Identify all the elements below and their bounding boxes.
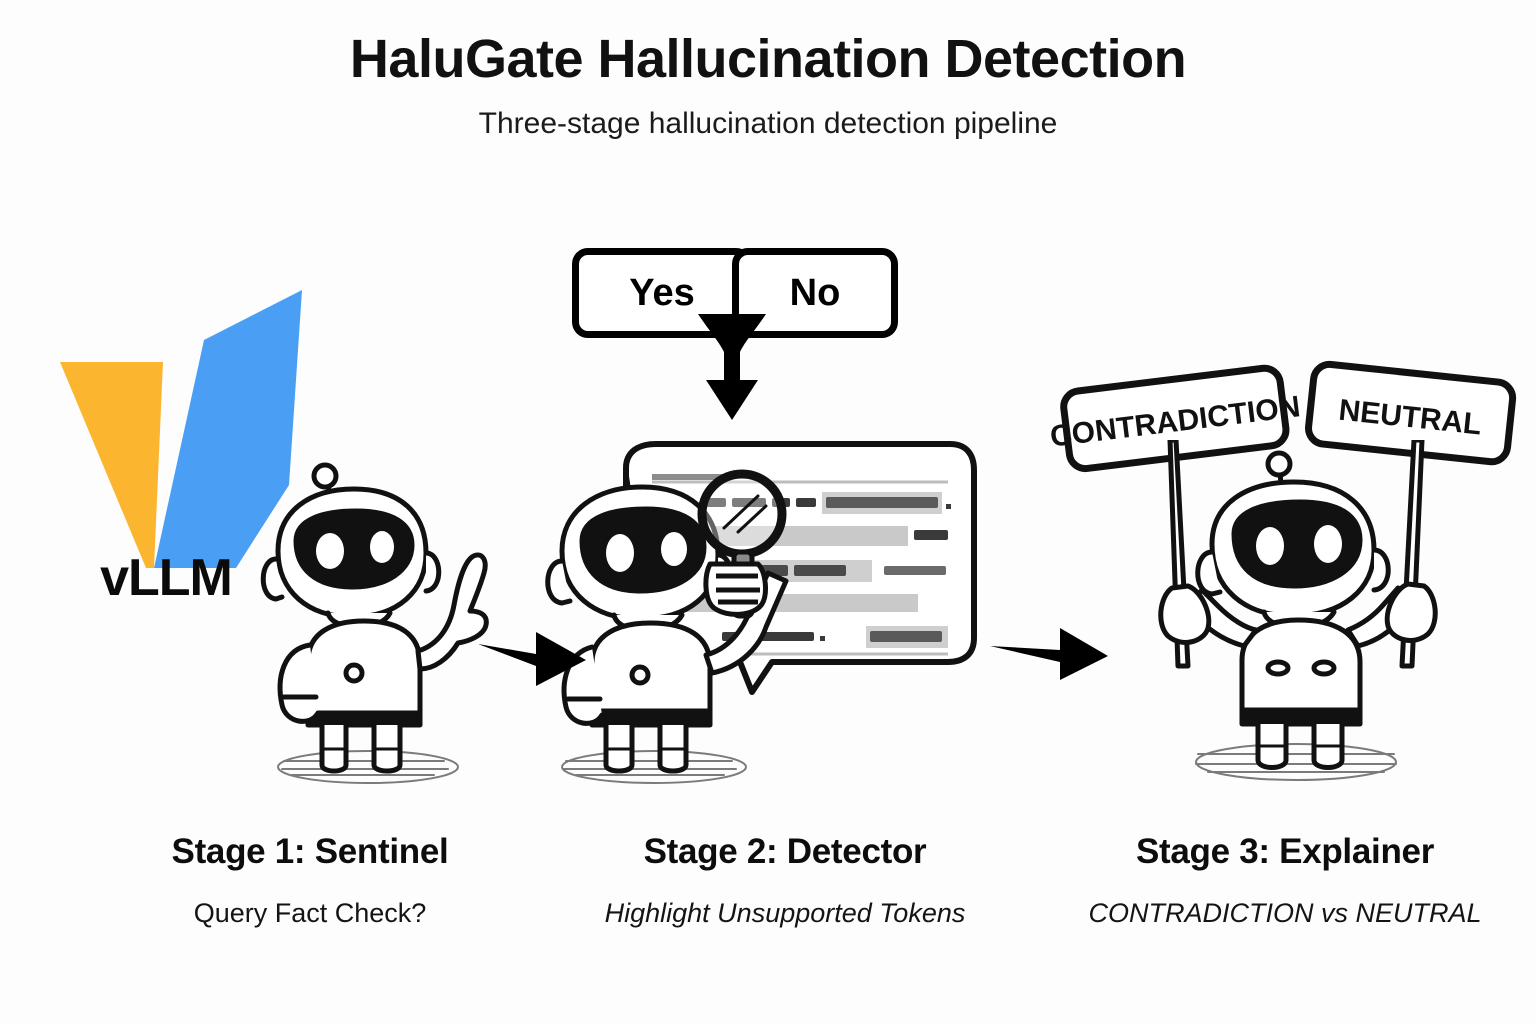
stage-1-caption: Stage 1: Sentinel Query Fact Check?: [70, 832, 550, 929]
stage-3-subtitle: CONTRADICTION vs NEUTRAL: [1045, 898, 1525, 929]
header: HaluGate Hallucination Detection Three-s…: [0, 30, 1536, 141]
page-title: HaluGate Hallucination Detection: [0, 30, 1536, 89]
stage-3-caption: Stage 3: Explainer CONTRADICTION vs NEUT…: [1045, 832, 1525, 929]
stage-2-caption: Stage 2: Detector Highlight Unsupported …: [545, 832, 1025, 929]
stage-2-title: Stage 2: Detector: [545, 832, 1025, 872]
decision-bubbles: Yes No: [572, 248, 892, 428]
stage-3-title: Stage 3: Explainer: [1045, 832, 1525, 872]
robot-explainer: [1146, 440, 1446, 785]
decision-down-arrow: [684, 310, 780, 425]
magnifying-glass-icon: [686, 466, 806, 636]
stage-1-subtitle: Query Fact Check?: [70, 898, 550, 929]
stage-2-subtitle: Highlight Unsupported Tokens: [545, 898, 1025, 929]
diagram-canvas: HaluGate Hallucination Detection Three-s…: [0, 0, 1536, 1024]
arrow-stage2-to-stage3: [988, 620, 1112, 684]
page-subtitle: Three-stage hallucination detection pipe…: [0, 107, 1536, 141]
stage-1-title: Stage 1: Sentinel: [70, 832, 550, 872]
arrow-stage1-to-stage2: [474, 626, 590, 690]
robot-sentinel: [248, 455, 508, 785]
